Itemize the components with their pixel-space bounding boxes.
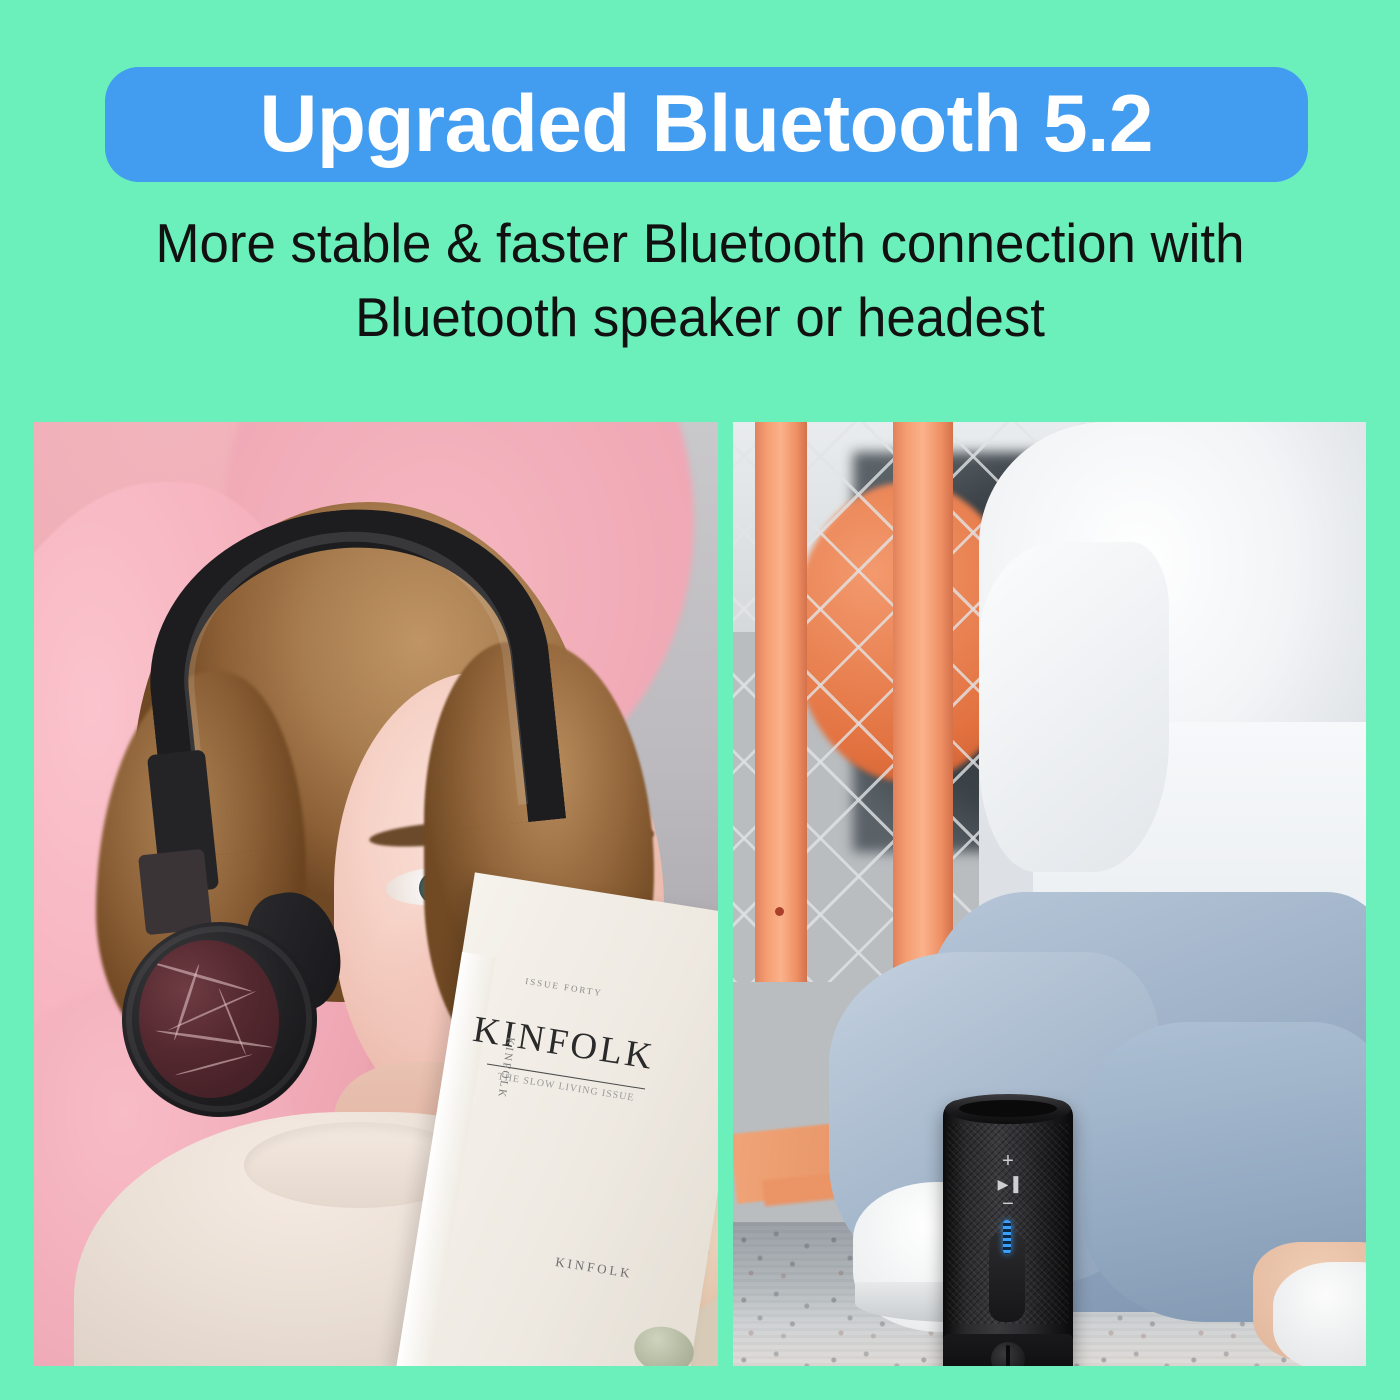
volume-down-icon[interactable]: −: [999, 1200, 1017, 1210]
orange-post-left: [755, 422, 807, 982]
post-screw: [775, 907, 784, 916]
speaker-port-slot: [1006, 1345, 1010, 1366]
page-title: Upgraded Bluetooth 5.2: [260, 84, 1154, 165]
volume-up-icon[interactable]: +: [999, 1152, 1017, 1170]
headline-banner: Upgraded Bluetooth 5.2: [105, 67, 1308, 182]
subtitle-line-2: Bluetooth speaker or headest: [28, 280, 1372, 354]
subtitle-line-1: More stable & faster Bluetooth connectio…: [28, 206, 1372, 280]
headphone-slider-joint: [138, 849, 212, 935]
tshirt-sleeve: [979, 542, 1169, 872]
white-sneaker-2: [1273, 1262, 1366, 1366]
battery-led-strip-icon: [1003, 1220, 1011, 1254]
speaker-top-inner: [959, 1100, 1057, 1117]
subtitle-block: More stable & faster Bluetooth connectio…: [0, 206, 1400, 354]
photo-woman-with-headphones: ISSUE FORTY KINFOLK THE SLOW LIVING ISSU…: [34, 422, 718, 1366]
play-pause-icon[interactable]: ▶▐: [997, 1177, 1019, 1191]
orange-post-right: [893, 422, 953, 982]
photo-person-with-speaker: + ▶▐ −: [733, 422, 1366, 1366]
